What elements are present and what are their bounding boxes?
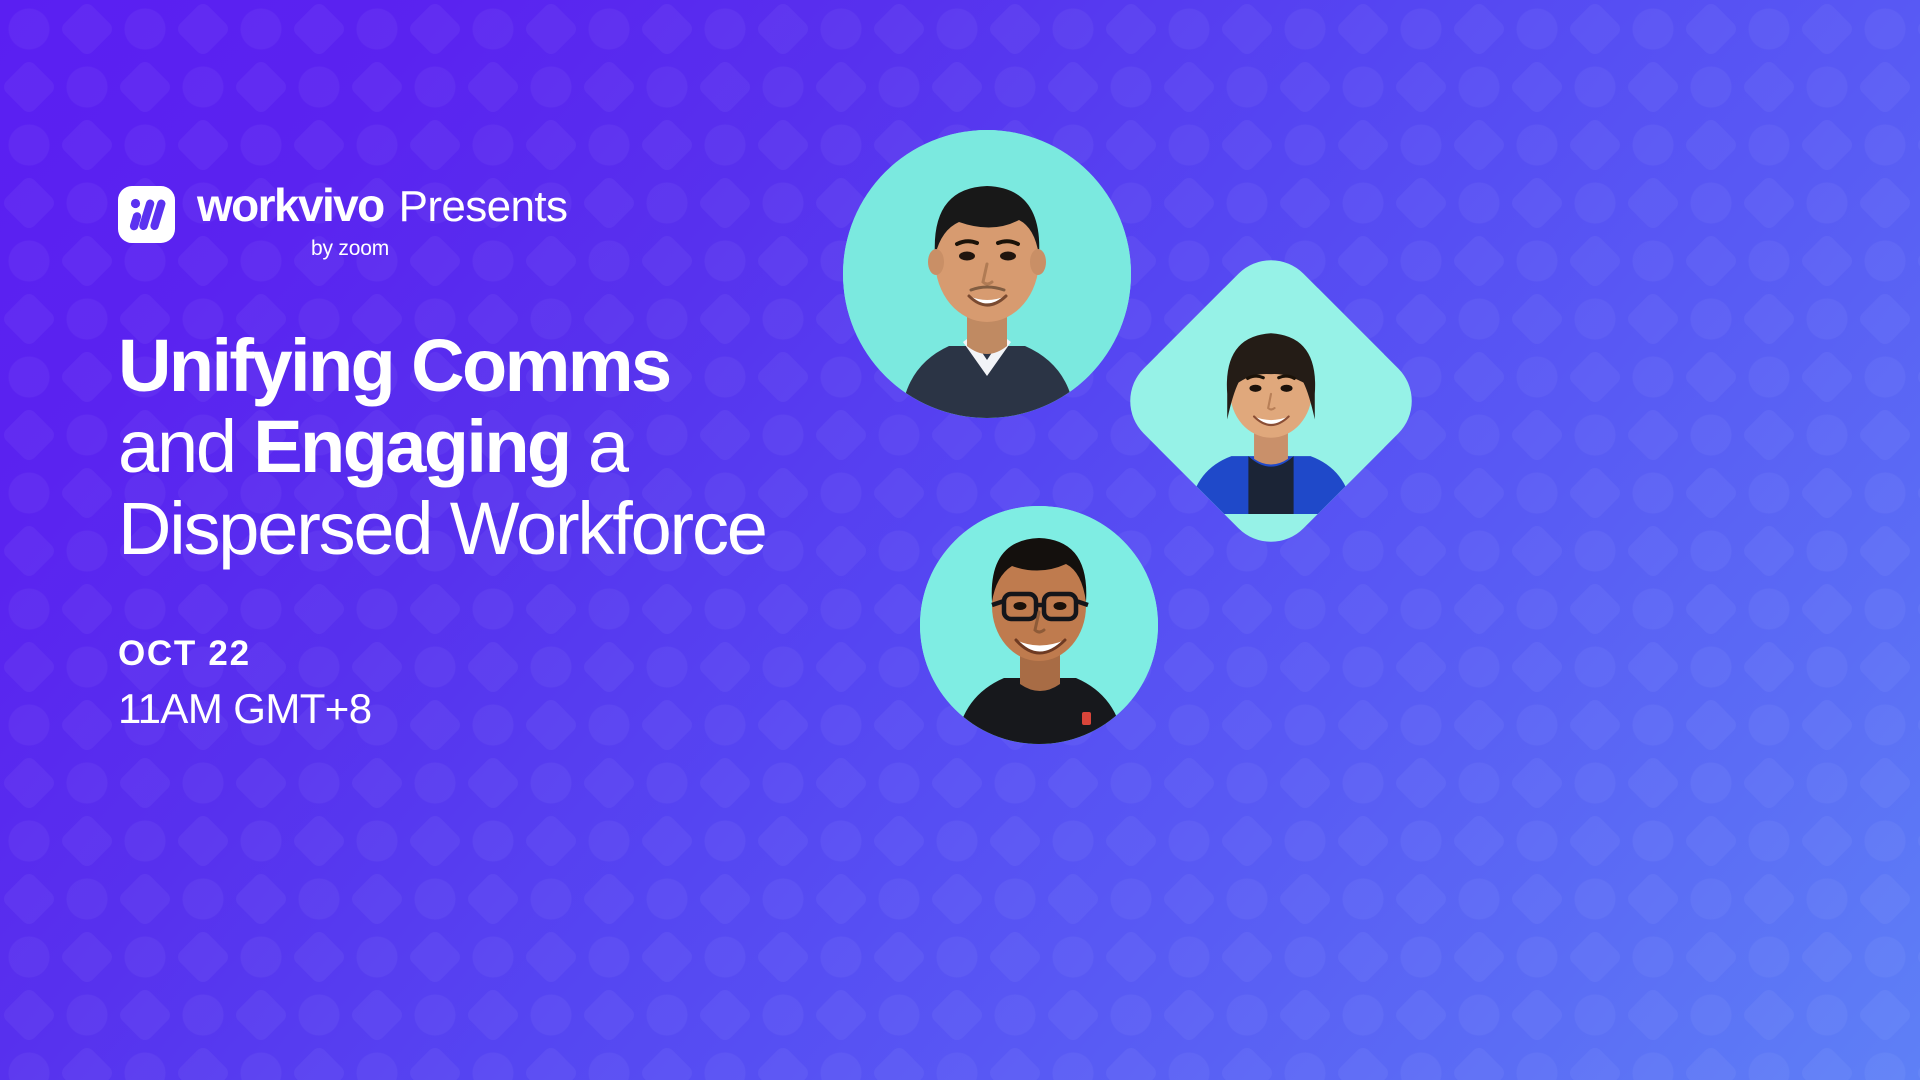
presents-label: Presents bbox=[399, 185, 568, 229]
headline-line-3: Dispersed Workforce bbox=[118, 488, 958, 569]
schedule-block: OCT 22 11AM GMT+8 bbox=[118, 635, 958, 732]
headline-line-1: Unifying Comms bbox=[118, 325, 958, 406]
webinar-promo-banner: workvivo Presents by zoom Unifying Comms… bbox=[0, 0, 1920, 1080]
event-date: OCT 22 bbox=[118, 635, 958, 674]
event-time: 11AM GMT+8 bbox=[118, 686, 958, 732]
headline-line1-bold: Unifying Comms bbox=[118, 324, 670, 407]
logo-lockup: workvivo Presents by zoom bbox=[118, 178, 958, 259]
by-zoom-byline: by zoom bbox=[197, 238, 503, 259]
logo-text-block: workvivo Presents by zoom bbox=[197, 178, 567, 259]
headline-line2-tail: a bbox=[588, 405, 627, 488]
headline-line3-light: Dispersed Workforce bbox=[118, 487, 766, 570]
headline-line2-and: and bbox=[118, 405, 235, 488]
workvivo-logo-icon bbox=[118, 186, 175, 243]
headline-line-2: and Engaging a bbox=[118, 406, 958, 487]
headline-line2-bold: Engaging bbox=[253, 405, 569, 488]
page-title: Unifying Comms and Engaging a Dispersed … bbox=[118, 325, 958, 569]
content-column: workvivo Presents by zoom Unifying Comms… bbox=[118, 178, 958, 732]
workvivo-wordmark: workvivo bbox=[197, 182, 384, 228]
